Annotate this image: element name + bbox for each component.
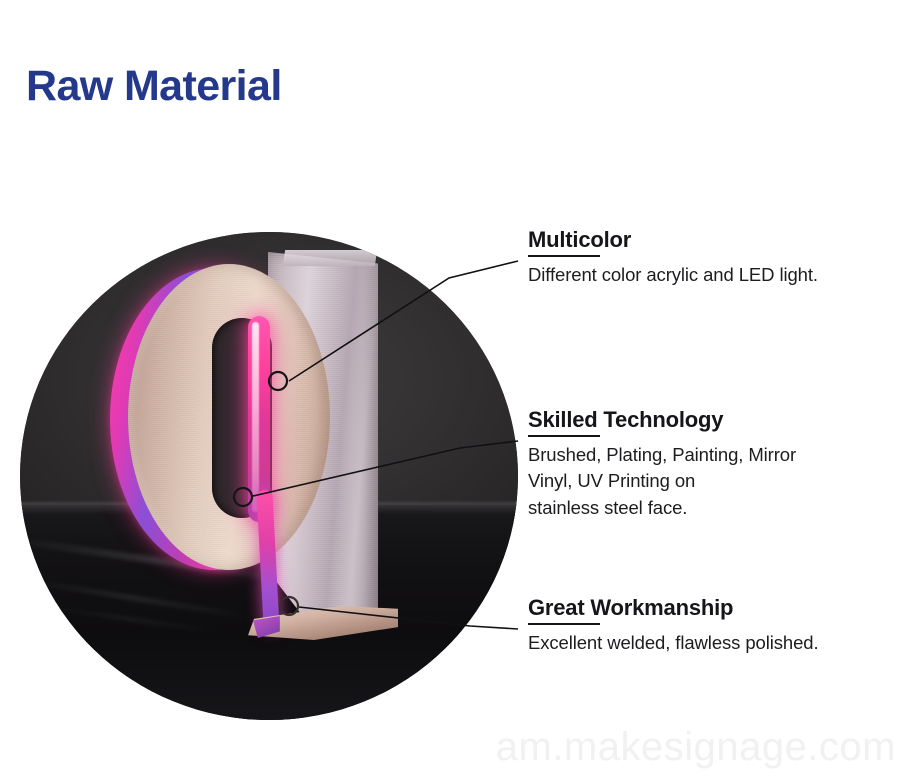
callout-underline [528, 255, 600, 257]
callout-underline [528, 623, 600, 625]
callout-body: Brushed, Plating, Painting, Mirror Vinyl… [528, 442, 796, 521]
callout-title: Skilled Technology [528, 408, 796, 432]
letter-counter-highlight [252, 322, 259, 512]
callout-title: Multicolor [528, 228, 818, 252]
page-title: Raw Material [26, 64, 282, 109]
watermark: am.makesignage.com [0, 725, 900, 770]
callout-body: Excellent welded, flawless polished. [528, 630, 819, 656]
callout-skilled-technology: Skilled Technology Brushed, Plating, Pai… [528, 408, 796, 521]
product-image-circle [20, 232, 518, 720]
callout-underline [528, 435, 600, 437]
callout-body: Different color acrylic and LED light. [528, 262, 818, 288]
letter-q-3d [108, 244, 438, 664]
infographic-page: Raw Material [0, 0, 900, 776]
callout-title: Great Workmanship [528, 596, 819, 620]
letter-stem-bevel [283, 250, 377, 266]
callout-multicolor: Multicolor Different color acrylic and L… [528, 228, 818, 288]
callout-great-workmanship: Great Workmanship Excellent welded, flaw… [528, 596, 819, 656]
